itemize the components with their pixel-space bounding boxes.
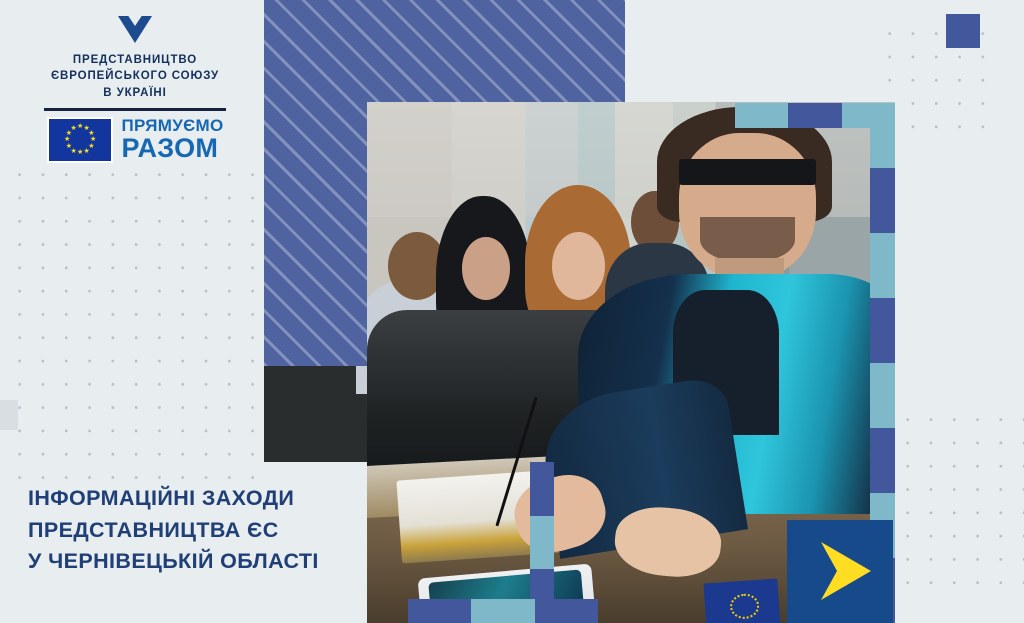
organisation-name: ПРЕДСТАВНИЦТВО ЄВРОПЕЙСЬКОГО СОЮЗУ В УКР… [30,52,240,101]
headline-line-1: ІНФОРМАЦІЙНІ ЗАХОДИ [28,483,368,515]
org-line-2: ЄВРОПЕЙСЬКОГО СОЮЗУ [30,68,240,84]
org-line-1: ПРЕДСТАВНИЦТВО [30,52,240,68]
accent-bar-segment [870,428,895,493]
eu-flag-star: ★ [77,150,82,155]
dot-grid-top-right [878,22,998,142]
brand-text: ПРЯМУЄМО РАЗОМ [122,117,224,162]
eu-flag: ★★★★★★★★★★★★ [47,117,113,163]
accent-bar-segment [471,599,534,623]
accent-bar-segment [870,363,895,428]
accent-bar-bottom [408,599,598,623]
accent-bar-segment [530,462,554,516]
dot-grid-left [8,163,270,493]
poster-canvas: ПРЕДСТАВНИЦТВО ЄВРОПЕЙСЬКОГО СОЮЗУ В УКР… [0,0,1024,623]
accent-bar-segment [870,168,895,233]
eu-flag-star: ★ [66,144,71,149]
eu-flag-star: ★ [84,149,89,154]
org-line-3: В УКРАЇНІ [30,85,240,101]
eu-flag-star: ★ [64,137,69,142]
eu-delegation-logo: ПРЕДСТАВНИЦТВО ЄВРОПЕЙСЬКОГО СОЮЗУ В УКР… [30,14,240,163]
page-title: ІНФОРМАЦІЙНІ ЗАХОДИ ПРЕДСТАВНИЦТВА ЄС У … [28,483,368,578]
decor-square-top-right [946,14,980,48]
eu-flag-star: ★ [90,137,95,142]
brand-line-1: ПРЯМУЄМО [122,117,224,134]
decor-square-mid-left [0,400,18,430]
headline-line-3: У ЧЕРНІВЕЦЬКІЙ ОБЛАСТІ [28,546,368,578]
headline-line-2: ПРЕДСТАВНИЦТВА ЄС [28,515,368,547]
accent-bar-segment [535,599,598,623]
arrow-block [787,520,893,623]
eu-flag-star: ★ [66,131,71,136]
eu-flag-star: ★ [77,124,82,129]
chevron-right-icon [809,538,871,604]
brand-lockup: ★★★★★★★★★★★★ ПРЯМУЄМО РАЗОМ [30,117,240,163]
logo-divider [44,108,226,111]
accent-bar-segment [788,103,841,128]
dot-grid-bottom-right [896,408,1024,598]
accent-bar-segment [870,103,895,168]
brand-line-2: РАЗОМ [122,135,224,162]
chevron-down-icon [116,14,154,44]
accent-bar-segment [735,103,788,128]
accent-bar-segment [870,233,895,298]
accent-bar-segment [530,516,554,570]
accent-bar-segment [870,298,895,363]
eu-flag-star: ★ [71,126,76,131]
accent-bar-segment [408,599,471,623]
